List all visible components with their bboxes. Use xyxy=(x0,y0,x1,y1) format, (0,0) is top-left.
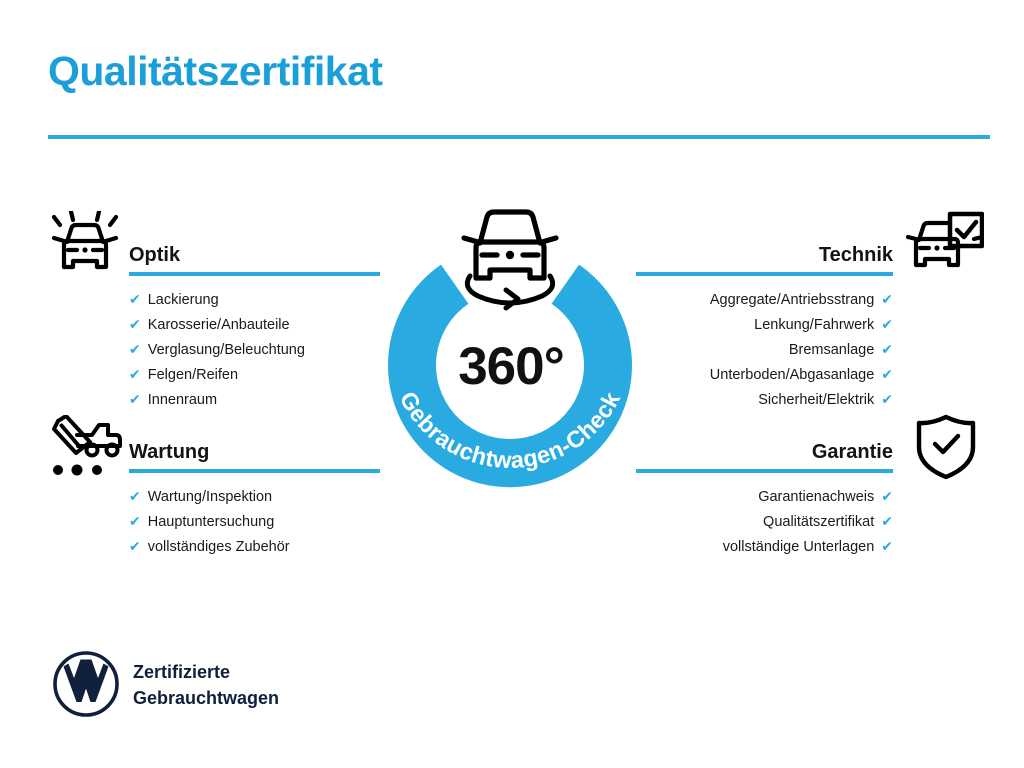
section-divider-garantie xyxy=(636,469,893,473)
list-item: ✔Wartung/Inspektion xyxy=(129,484,380,509)
car-rotate-icon xyxy=(464,212,556,308)
section-garantie: GarantieGarantienachweis✔Qualitätszertif… xyxy=(636,431,893,559)
list-item-label: Garantienachweis xyxy=(758,485,874,509)
check-icon: ✔ xyxy=(129,287,141,311)
section-title-optik: Optik xyxy=(129,244,180,267)
list-item-label: Unterboden/Abgasanlage xyxy=(710,363,874,387)
list-item-label: Verglasung/Beleuchtung xyxy=(148,338,305,362)
list-item: vollständige Unterlagen✔ xyxy=(636,534,893,559)
page-title: Qualitätszertifikat xyxy=(48,49,383,94)
check-icon: ✔ xyxy=(129,534,141,558)
certificate-page: Qualitätszertifikat xyxy=(0,0,1024,768)
list-item: Lenkung/Fahrwerk✔ xyxy=(636,312,893,337)
list-item: Garantienachweis✔ xyxy=(636,484,893,509)
check-icon: ✔ xyxy=(129,509,141,533)
section-title-garantie: Garantie xyxy=(812,441,893,464)
shield-check-icon xyxy=(915,414,977,480)
list-item: Qualitätszertifikat✔ xyxy=(636,509,893,534)
list-item: ✔Lackierung xyxy=(129,287,380,312)
section-head-optik: Optik xyxy=(129,234,380,276)
section-divider-technik xyxy=(636,272,893,276)
section-title-wartung: Wartung xyxy=(129,441,209,464)
check-icon: ✔ xyxy=(881,362,893,386)
check-icon: ✔ xyxy=(881,484,893,508)
section-divider-wartung xyxy=(129,469,380,473)
list-item-label: vollständiges Zubehör xyxy=(148,535,290,559)
list-item: Bremsanlage✔ xyxy=(636,337,893,362)
footer-line-2: Gebrauchtwagen xyxy=(133,685,279,711)
check-icon: ✔ xyxy=(881,534,893,558)
list-item-label: Lackierung xyxy=(148,288,219,312)
list-item-label: Aggregate/Antriebsstrang xyxy=(710,288,874,312)
list-item-label: Qualitätszertifikat xyxy=(763,510,874,534)
section-head-wartung: Wartung xyxy=(129,431,380,473)
list-item-label: Sicherheit/Elektrik xyxy=(758,388,874,412)
vw-logo xyxy=(52,650,120,718)
section-wartung: Wartung✔Wartung/Inspektion✔Hauptuntersuc… xyxy=(129,431,380,559)
check-icon: ✔ xyxy=(129,362,141,386)
list-item-label: Felgen/Reifen xyxy=(148,363,238,387)
badge-360-gebrauchtwagen-check: Gebrauchtwagen-Check 360° xyxy=(366,196,654,496)
list-item-label: Lenkung/Fahrwerk xyxy=(754,313,874,337)
list-item: Sicherheit/Elektrik✔ xyxy=(636,387,893,412)
list-item-label: Karosserie/Anbauteile xyxy=(148,313,290,337)
check-icon: ✔ xyxy=(129,337,141,361)
check-icon: ✔ xyxy=(129,387,141,411)
car-front-checkbox-icon xyxy=(906,211,984,279)
section-head-technik: Technik xyxy=(636,234,893,276)
list-item-label: Wartung/Inspektion xyxy=(148,485,272,509)
checklist-wartung: ✔Wartung/Inspektion✔Hauptuntersuchung✔vo… xyxy=(129,484,380,559)
list-item-label: Bremsanlage xyxy=(789,338,874,362)
car-front-shine-icon xyxy=(46,211,124,279)
list-item-label: Hauptuntersuchung xyxy=(148,510,275,534)
section-technik: TechnikAggregate/Antriebsstrang✔Lenkung/… xyxy=(636,234,893,412)
check-icon: ✔ xyxy=(881,287,893,311)
pen-car-service-icon xyxy=(46,415,124,479)
footer-text: Zertifizierte Gebrauchtwagen xyxy=(133,659,279,711)
list-item: ✔Karosserie/Anbauteile xyxy=(129,312,380,337)
list-item: ✔Felgen/Reifen xyxy=(129,362,380,387)
check-icon: ✔ xyxy=(881,509,893,533)
check-icon: ✔ xyxy=(881,337,893,361)
list-item: Unterboden/Abgasanlage✔ xyxy=(636,362,893,387)
checklist-optik: ✔Lackierung✔Karosserie/Anbauteile✔Vergla… xyxy=(129,287,380,412)
list-item-label: Innenraum xyxy=(148,388,217,412)
list-item: ✔Verglasung/Beleuchtung xyxy=(129,337,380,362)
check-icon: ✔ xyxy=(129,312,141,336)
list-item: ✔Hauptuntersuchung xyxy=(129,509,380,534)
checklist-technik: Aggregate/Antriebsstrang✔Lenkung/Fahrwer… xyxy=(636,287,893,412)
checklist-garantie: Garantienachweis✔Qualitätszertifikat✔vol… xyxy=(636,484,893,559)
check-icon: ✔ xyxy=(129,484,141,508)
list-item-label: vollständige Unterlagen xyxy=(723,535,875,559)
section-divider-optik xyxy=(129,272,380,276)
check-icon: ✔ xyxy=(881,387,893,411)
list-item: Aggregate/Antriebsstrang✔ xyxy=(636,287,893,312)
section-title-technik: Technik xyxy=(819,244,893,267)
list-item: ✔Innenraum xyxy=(129,387,380,412)
section-optik: Optik✔Lackierung✔Karosserie/Anbauteile✔V… xyxy=(129,234,380,412)
list-item: ✔vollständiges Zubehör xyxy=(129,534,380,559)
footer-line-1: Zertifizierte xyxy=(133,659,279,685)
section-head-garantie: Garantie xyxy=(636,431,893,473)
check-icon: ✔ xyxy=(881,312,893,336)
header-divider xyxy=(48,135,990,139)
